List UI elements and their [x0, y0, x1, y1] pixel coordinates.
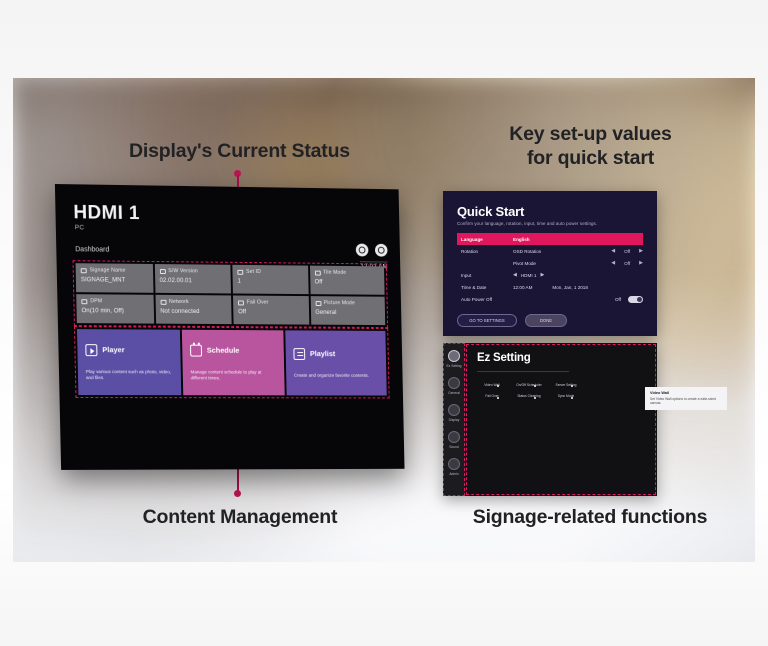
power-icon[interactable] [375, 244, 388, 257]
card-title: Playlist [310, 349, 336, 358]
prev-arrow-icon[interactable]: ◀ [611, 248, 615, 254]
ez-setting-items: Video WallOn/Off SchedulerServer Setting… [477, 380, 647, 398]
quick-start-row[interactable]: LanguageEnglish [457, 233, 643, 245]
callout-signage-functions: Signage-related functions [430, 506, 750, 530]
chip-icon [159, 269, 165, 274]
card-description: Create and organize favorite contents. [294, 372, 379, 378]
divider [477, 371, 569, 372]
tile-value: General [315, 310, 380, 316]
dashboard-tile[interactable]: Fail OverOff [233, 295, 309, 324]
tooltip-heading: Video Wall [650, 391, 722, 395]
go-to-settings-button[interactable]: GO TO SETTINGS [457, 314, 517, 327]
card-title: Player [102, 345, 125, 354]
ez-setting-item[interactable]: On/Off Scheduler [514, 380, 544, 387]
sidebar-item-ez-setting[interactable]: Ez Setting [443, 350, 465, 368]
next-arrow-icon[interactable]: ▶ [639, 260, 643, 266]
row-value: 12:00 AM [513, 285, 532, 290]
tile-label: Set ID [246, 269, 261, 275]
ez-setting-item[interactable]: Server Setting [551, 380, 581, 387]
sidebar-item-display[interactable]: Display [443, 404, 465, 422]
quick-start-panel: Quick Start Confirm your language, rotat… [443, 191, 657, 336]
screenshot-root: Display's Current Status Key set-up valu… [0, 0, 768, 646]
next-arrow-icon[interactable]: ▶ [540, 272, 544, 278]
ez-setting-panel: Ez SettingGeneralDisplaySoundAdmin Ez Se… [443, 343, 657, 496]
dashboard-tile[interactable]: Picture ModeGeneral [310, 296, 385, 325]
quick-start-title: Quick Start [457, 204, 643, 219]
tile-value: On(10 min, Off) [82, 308, 149, 314]
next-arrow-icon[interactable]: ▶ [639, 248, 643, 254]
quick-start-settings-list: LanguageEnglishRotationOSD Rotation◀Off▶… [457, 233, 643, 305]
ez-setting-icon [448, 350, 460, 362]
callout-content-management: Content Management [100, 506, 380, 530]
picture-icon [315, 301, 321, 306]
ez-item-label: Video Wall [477, 383, 507, 387]
ez-setting-item[interactable]: Status Cleaning [514, 392, 544, 399]
tile-label: Signage Name [90, 267, 126, 273]
playlist-icon [293, 348, 305, 360]
connector-dot-bottom [234, 490, 241, 497]
row-option: Off [624, 261, 630, 266]
quick-start-row[interactable]: Input◀HDMI 1▶ [457, 269, 643, 281]
tile-value: 1 [238, 279, 304, 286]
ez-setting-main: Ez Setting Video WallOn/Off SchedulerSer… [465, 343, 657, 496]
grid-icon [314, 270, 320, 275]
dashboard-tile[interactable]: Tile ModeOff [310, 266, 385, 295]
row-value: OSD Rotation [513, 249, 541, 254]
ez-item-label: Status Cleaning [514, 394, 544, 398]
input-source-sublabel: PC [75, 224, 85, 231]
sidebar-item-label: General [448, 391, 460, 395]
row-value: HDMI 1 [521, 273, 537, 278]
tile-value: 02.02.00.01 [160, 278, 226, 285]
ez-item-label: On/Off Scheduler [514, 383, 544, 387]
prev-arrow-icon[interactable]: ◀ [513, 272, 517, 278]
admin-icon [448, 458, 460, 470]
tooltip-body: Set Video Wall options to create a wide-… [650, 397, 722, 406]
tile-label: S/W Version [168, 268, 198, 274]
row-key: Auto Power Off [457, 297, 513, 302]
tile-label: Network [169, 299, 189, 305]
ez-setting-item[interactable]: Sync Mode [551, 392, 581, 399]
settings-icon[interactable] [356, 244, 369, 257]
ez-setting-sidebar: Ez SettingGeneralDisplaySoundAdmin [443, 343, 465, 496]
content-management-cards: PlayerPlay various content such as photo… [77, 329, 387, 395]
sidebar-item-admin[interactable]: Admin [443, 458, 465, 476]
signage-display-screen: HDMI 1 PC Dashboard 12:02 AM Signage Nam… [55, 184, 405, 470]
dashboard-title: Dashboard [75, 246, 109, 253]
id-icon [237, 269, 243, 274]
dashboard-status-tiles: Signage NameSIGNAGE_MNTS/W Version02.02.… [76, 263, 386, 325]
tile-label: DPM [90, 298, 102, 304]
dashboard-tile[interactable]: NetworkNot connected [155, 295, 232, 324]
tile-label: Picture Mode [324, 300, 355, 306]
prev-arrow-icon[interactable]: ◀ [611, 260, 615, 266]
sidebar-item-label: Display [449, 418, 460, 422]
ez-item-label: Fail Over [477, 394, 507, 398]
dashboard-tile[interactable]: S/W Version02.02.00.01 [154, 264, 231, 293]
card-description: Manage content schedule to play at diffe… [191, 369, 277, 381]
sidebar-item-general[interactable]: General [443, 377, 465, 395]
callout-display-status: Display's Current Status [102, 140, 377, 164]
dashboard-tile[interactable]: DPMOn(10 min, Off) [76, 294, 153, 323]
input-source-label: HDMI 1 [73, 202, 140, 225]
calendar-icon [190, 344, 202, 356]
tile-value: SIGNAGE_MNT [81, 277, 148, 284]
tile-value: Off [238, 309, 304, 315]
quick-start-row[interactable]: Time & Date12:00 AMMon, Jan, 1 2018 [457, 281, 643, 293]
dashboard-top-icons [356, 244, 388, 257]
ez-setting-title: Ez Setting [477, 352, 647, 364]
quick-start-row[interactable]: RotationOSD Rotation◀Off▶ [457, 245, 643, 257]
dashboard-tile[interactable]: Set ID1 [232, 265, 308, 294]
tile-label: Tile Mode [323, 270, 346, 276]
quick-start-row[interactable]: Auto Power OffOff [457, 293, 643, 305]
row-key: Rotation [457, 249, 513, 254]
sidebar-item-sound[interactable]: Sound [443, 431, 465, 449]
row-key: Input [457, 273, 513, 278]
done-button[interactable]: DONE [525, 314, 567, 327]
content-card[interactable]: ScheduleManage content schedule to play … [182, 330, 285, 396]
sidebar-item-label: Sound [449, 445, 459, 449]
auto-power-off-toggle[interactable] [628, 296, 643, 303]
ez-setting-item[interactable]: Fail Over [477, 392, 507, 399]
display-icon [448, 404, 460, 416]
callout-key-setup: Key set-up values for quick start [468, 123, 713, 171]
tile-label: Fail Over [247, 300, 269, 306]
power-icon [81, 299, 87, 304]
quick-start-subtitle: Confirm your language, rotation, input, … [457, 221, 643, 226]
row-key: Time & Date [457, 285, 513, 290]
tile-value: Off [315, 279, 380, 285]
row-option: Off [624, 249, 630, 254]
row-option: Off [615, 297, 621, 302]
ez-setting-tooltip: Video Wall Set Video Wall options to cre… [645, 387, 727, 410]
failover-icon [238, 300, 244, 305]
ez-item-label: Server Setting [551, 383, 581, 387]
play-icon [85, 344, 97, 356]
wifi-icon [160, 299, 166, 304]
tile-value: Not connected [160, 309, 226, 315]
quick-start-buttons: GO TO SETTINGS DONE [457, 314, 643, 327]
row-extra: Mon, Jan, 1 2018 [552, 285, 588, 290]
content-card[interactable]: PlaylistCreate and organize favorite con… [285, 330, 386, 395]
row-key: Language [457, 237, 513, 242]
row-value: English [513, 237, 530, 242]
sound-icon [448, 431, 460, 443]
card-title: Schedule [207, 346, 240, 355]
content-card[interactable]: PlayerPlay various content such as photo… [77, 329, 181, 395]
ez-setting-item[interactable]: Video Wall [477, 380, 507, 387]
monitor-icon [81, 268, 87, 273]
dashboard-tile[interactable]: Signage NameSIGNAGE_MNT [76, 263, 153, 293]
sidebar-item-label: Admin [449, 472, 458, 476]
general-icon [448, 377, 460, 389]
row-value: Pivot Mode [513, 261, 536, 266]
card-description: Play various content such as photo, vide… [86, 369, 173, 381]
quick-start-row[interactable]: Pivot Mode◀Off▶ [457, 257, 643, 269]
sidebar-item-label: Ez Setting [446, 364, 461, 368]
ez-item-label: Sync Mode [551, 394, 581, 398]
